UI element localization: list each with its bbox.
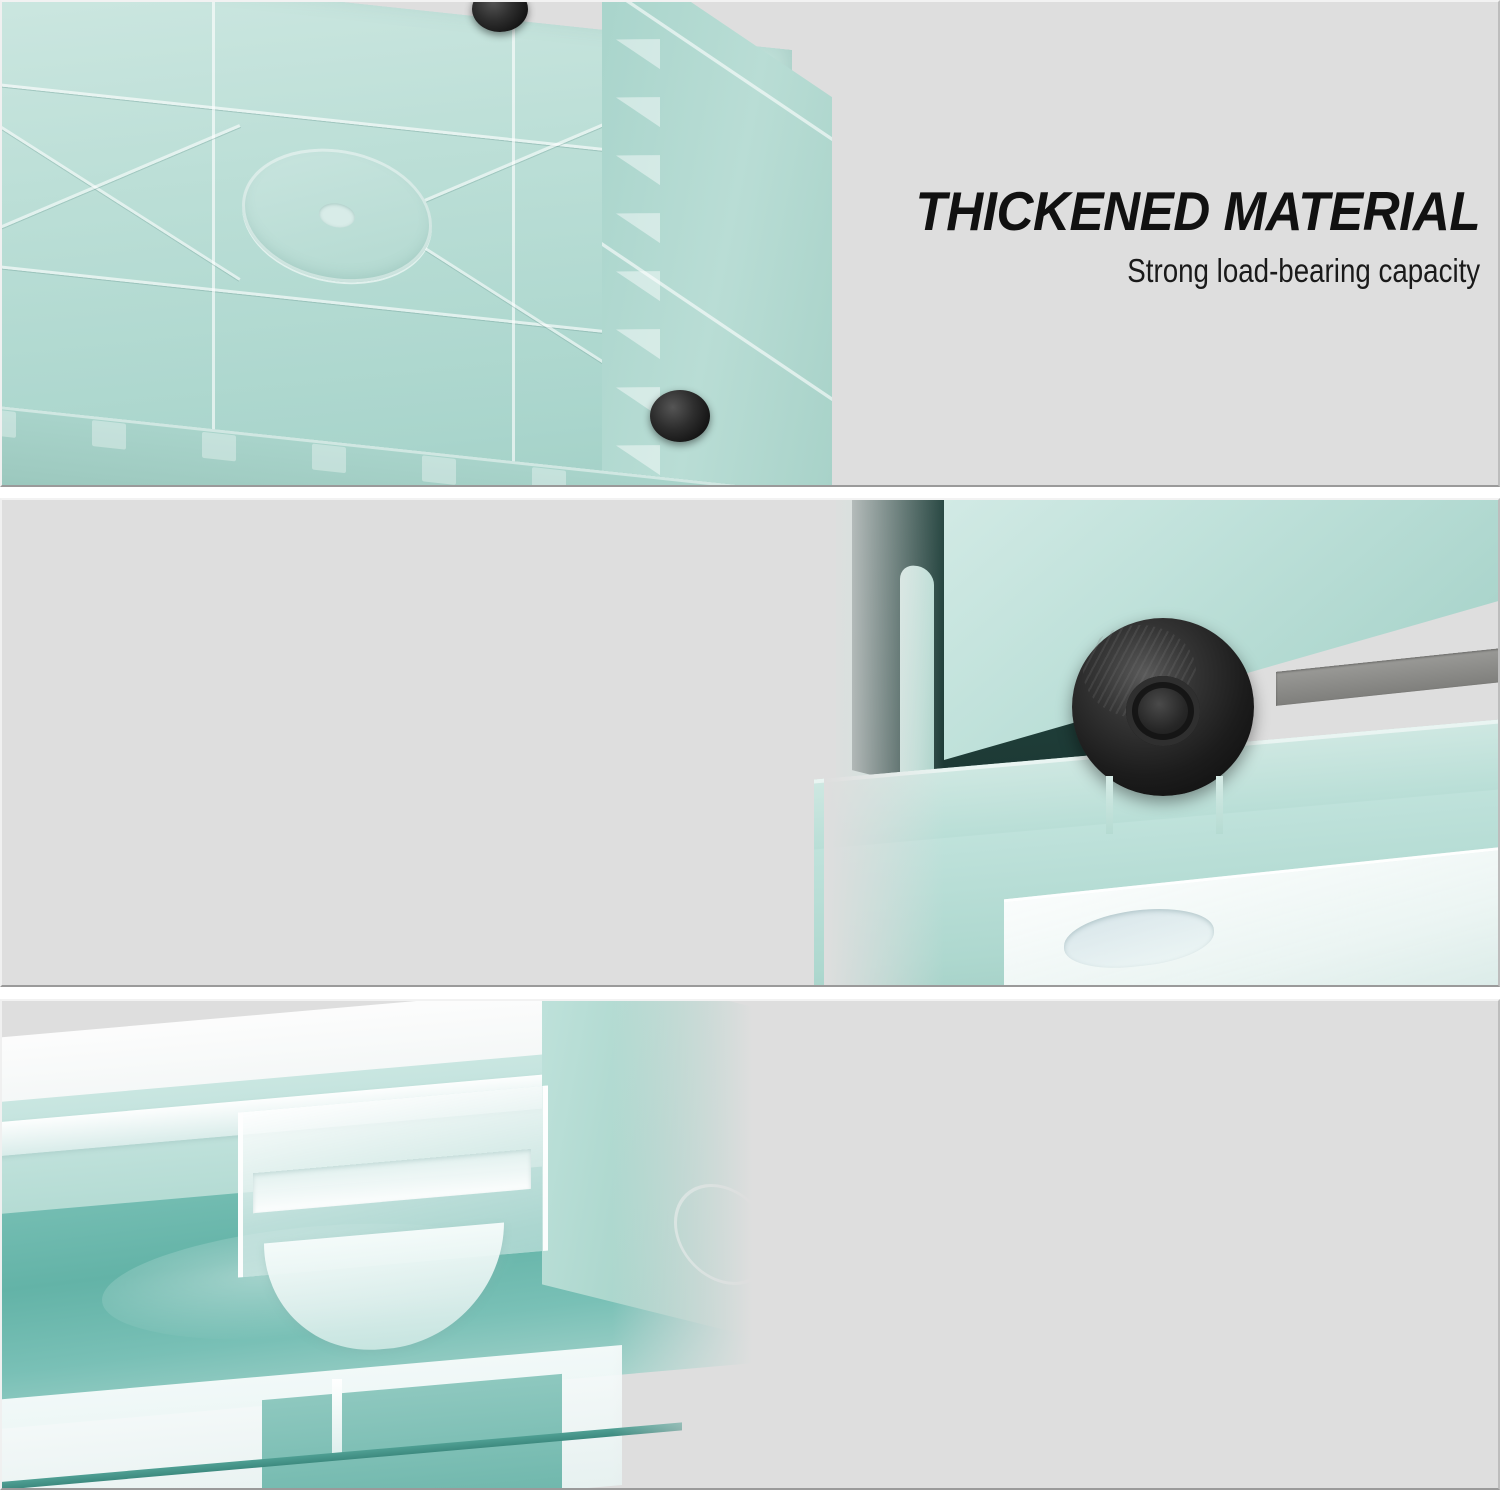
caster-closeup-photo — [824, 500, 1500, 987]
drawer-pull-notch — [1064, 902, 1214, 974]
lid-edge-rib-wall — [602, 0, 832, 487]
rib-gusset — [616, 299, 660, 359]
panel-headline: THICKENED MATERIAL — [915, 184, 1480, 239]
skirt-tab — [312, 444, 346, 474]
lid-seam-vertical-right — [512, 20, 515, 487]
panel-subline: Strong load-bearing capacity — [970, 253, 1480, 289]
image-fade-edge — [824, 500, 944, 987]
caster-wheel-icon — [1072, 618, 1254, 796]
groove-lip — [253, 1149, 531, 1213]
feature-panel-thickened-material: THICKENED MATERIAL Strong load-bearing c… — [0, 0, 1500, 487]
vertical-divider-post — [332, 1379, 342, 1459]
rib-gusset — [616, 67, 660, 127]
skirt-tab — [422, 455, 456, 485]
caster-axle-fork — [1106, 776, 1113, 834]
wheel-hub — [1126, 676, 1200, 746]
lid-seam-vertical-left — [212, 0, 215, 487]
rib-gusset — [616, 125, 660, 185]
skirt-tab — [202, 432, 236, 462]
box-handle-slot — [1276, 648, 1500, 706]
lid-diagonal-rib-2 — [0, 124, 241, 262]
lid-center-boss-pip — [319, 201, 355, 229]
skirt-tab — [92, 420, 126, 450]
feature-panel-bottom-pulley-design: BOTTOM PULLEY DESIGN Easy to move — [0, 498, 1500, 987]
rib-wall-rail-top — [602, 0, 832, 141]
groove-overlay-closeup-photo — [2, 1001, 792, 1490]
caster-wheel-icon — [650, 390, 710, 442]
caster-axle-fork — [1216, 776, 1223, 834]
infographic-board: THICKENED MATERIAL Strong load-bearing c… — [0, 0, 1500, 1490]
caption-thickened-material: THICKENED MATERIAL Strong load-bearing c… — [873, 184, 1480, 289]
rib-gusset — [616, 183, 660, 243]
skirt-tab — [532, 467, 566, 487]
feature-panel-groove-overlay-design: GROOVE OVERLAY DESIGN Laminate is not ea… — [0, 999, 1500, 1490]
lid-center-boss — [242, 139, 432, 291]
skirt-tab — [0, 408, 16, 438]
rib-gusset — [616, 241, 660, 301]
image-fade-edge — [612, 1001, 792, 1490]
